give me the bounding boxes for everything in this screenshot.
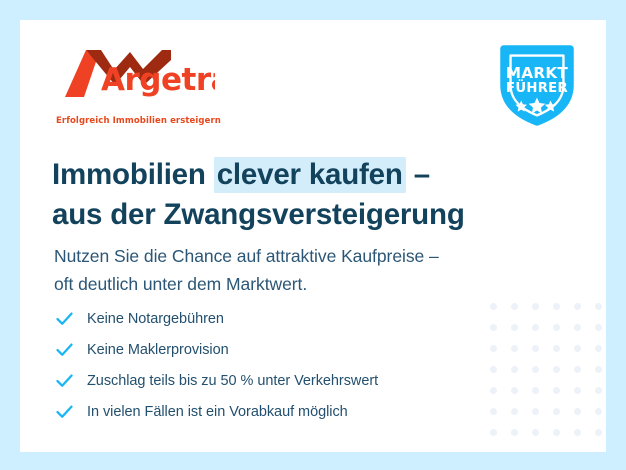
decorative-dot [595, 429, 602, 436]
promo-card: Argetra Erfolgreich Immobilien ersteiger… [20, 20, 606, 452]
svg-text:FÜHRER: FÜHRER [506, 78, 568, 96]
decorative-dot [553, 366, 560, 373]
headline-highlight: clever kaufen [214, 157, 406, 193]
decorative-dot [553, 429, 560, 436]
list-item: Keine Notargebühren [54, 303, 524, 334]
subheading: Nutzen Sie die Chance auf attraktive Kau… [54, 242, 534, 298]
decorative-dot [490, 429, 497, 436]
check-icon [54, 308, 75, 329]
list-item-label: In vielen Fällen ist ein Vorabkauf mögli… [87, 404, 348, 420]
decorative-dot [532, 366, 539, 373]
argetra-logo[interactable]: Argetra Erfolgreich Immobilien ersteiger… [55, 47, 255, 129]
decorative-dot [574, 408, 581, 415]
decorative-dot [595, 408, 602, 415]
decorative-dot [595, 303, 602, 310]
decorative-dot [532, 345, 539, 352]
page-title: Immobilien clever kaufen – aus der Zwang… [52, 155, 522, 235]
headline-line-1: Immobilien clever kaufen – [52, 155, 522, 195]
subheading-line-2: oft deutlich unter dem Marktwert. [54, 270, 534, 298]
decorative-dot [553, 324, 560, 331]
list-item-label: Keine Maklerprovision [87, 342, 229, 358]
subheading-line-1: Nutzen Sie die Chance auf attraktive Kau… [54, 242, 534, 270]
decorative-dot [553, 303, 560, 310]
decorative-dot [532, 303, 539, 310]
decorative-dot [595, 345, 602, 352]
decorative-dot [553, 387, 560, 394]
svg-text:Argetra: Argetra [101, 62, 215, 98]
check-icon [54, 339, 75, 360]
decorative-dot [595, 387, 602, 394]
list-item-label: Zuschlag teils bis zu 50 % unter Verkehr… [87, 373, 378, 389]
decorative-dot [553, 345, 560, 352]
decorative-dot [511, 429, 518, 436]
promo-banner: Argetra Erfolgreich Immobilien ersteiger… [0, 0, 626, 470]
headline-line1-after: – [406, 158, 430, 191]
benefits-list: Keine NotargebührenKeine Maklerprovision… [54, 303, 524, 427]
decorative-dot [574, 324, 581, 331]
markt-fuehrer-badge: MARKT FÜHRER [488, 35, 586, 133]
list-item-label: Keine Notargebühren [87, 311, 224, 327]
check-icon [54, 370, 75, 391]
decorative-dot [532, 387, 539, 394]
decorative-dot [595, 324, 602, 331]
headline-line1-before: Immobilien [52, 158, 214, 191]
svg-text:MARKT: MARKT [506, 64, 569, 82]
decorative-dot [574, 366, 581, 373]
decorative-dot [574, 429, 581, 436]
decorative-dot [553, 408, 560, 415]
list-item: Keine Maklerprovision [54, 334, 524, 365]
list-item: In vielen Fällen ist ein Vorabkauf mögli… [54, 396, 524, 427]
decorative-dot [595, 366, 602, 373]
list-item: Zuschlag teils bis zu 50 % unter Verkehr… [54, 365, 524, 396]
logo-tagline: Erfolgreich Immobilien ersteigern [56, 116, 221, 126]
argetra-roof-a-icon: Argetra [55, 47, 215, 105]
decorative-dot [532, 429, 539, 436]
shield-badge-icon: MARKT FÜHRER [488, 35, 586, 133]
decorative-dot [532, 408, 539, 415]
decorative-dot [574, 345, 581, 352]
decorative-dot [574, 303, 581, 310]
decorative-dot [532, 324, 539, 331]
decorative-dot [574, 387, 581, 394]
headline-line-2: aus der Zwangsversteigerung [52, 195, 522, 235]
check-icon [54, 401, 75, 422]
